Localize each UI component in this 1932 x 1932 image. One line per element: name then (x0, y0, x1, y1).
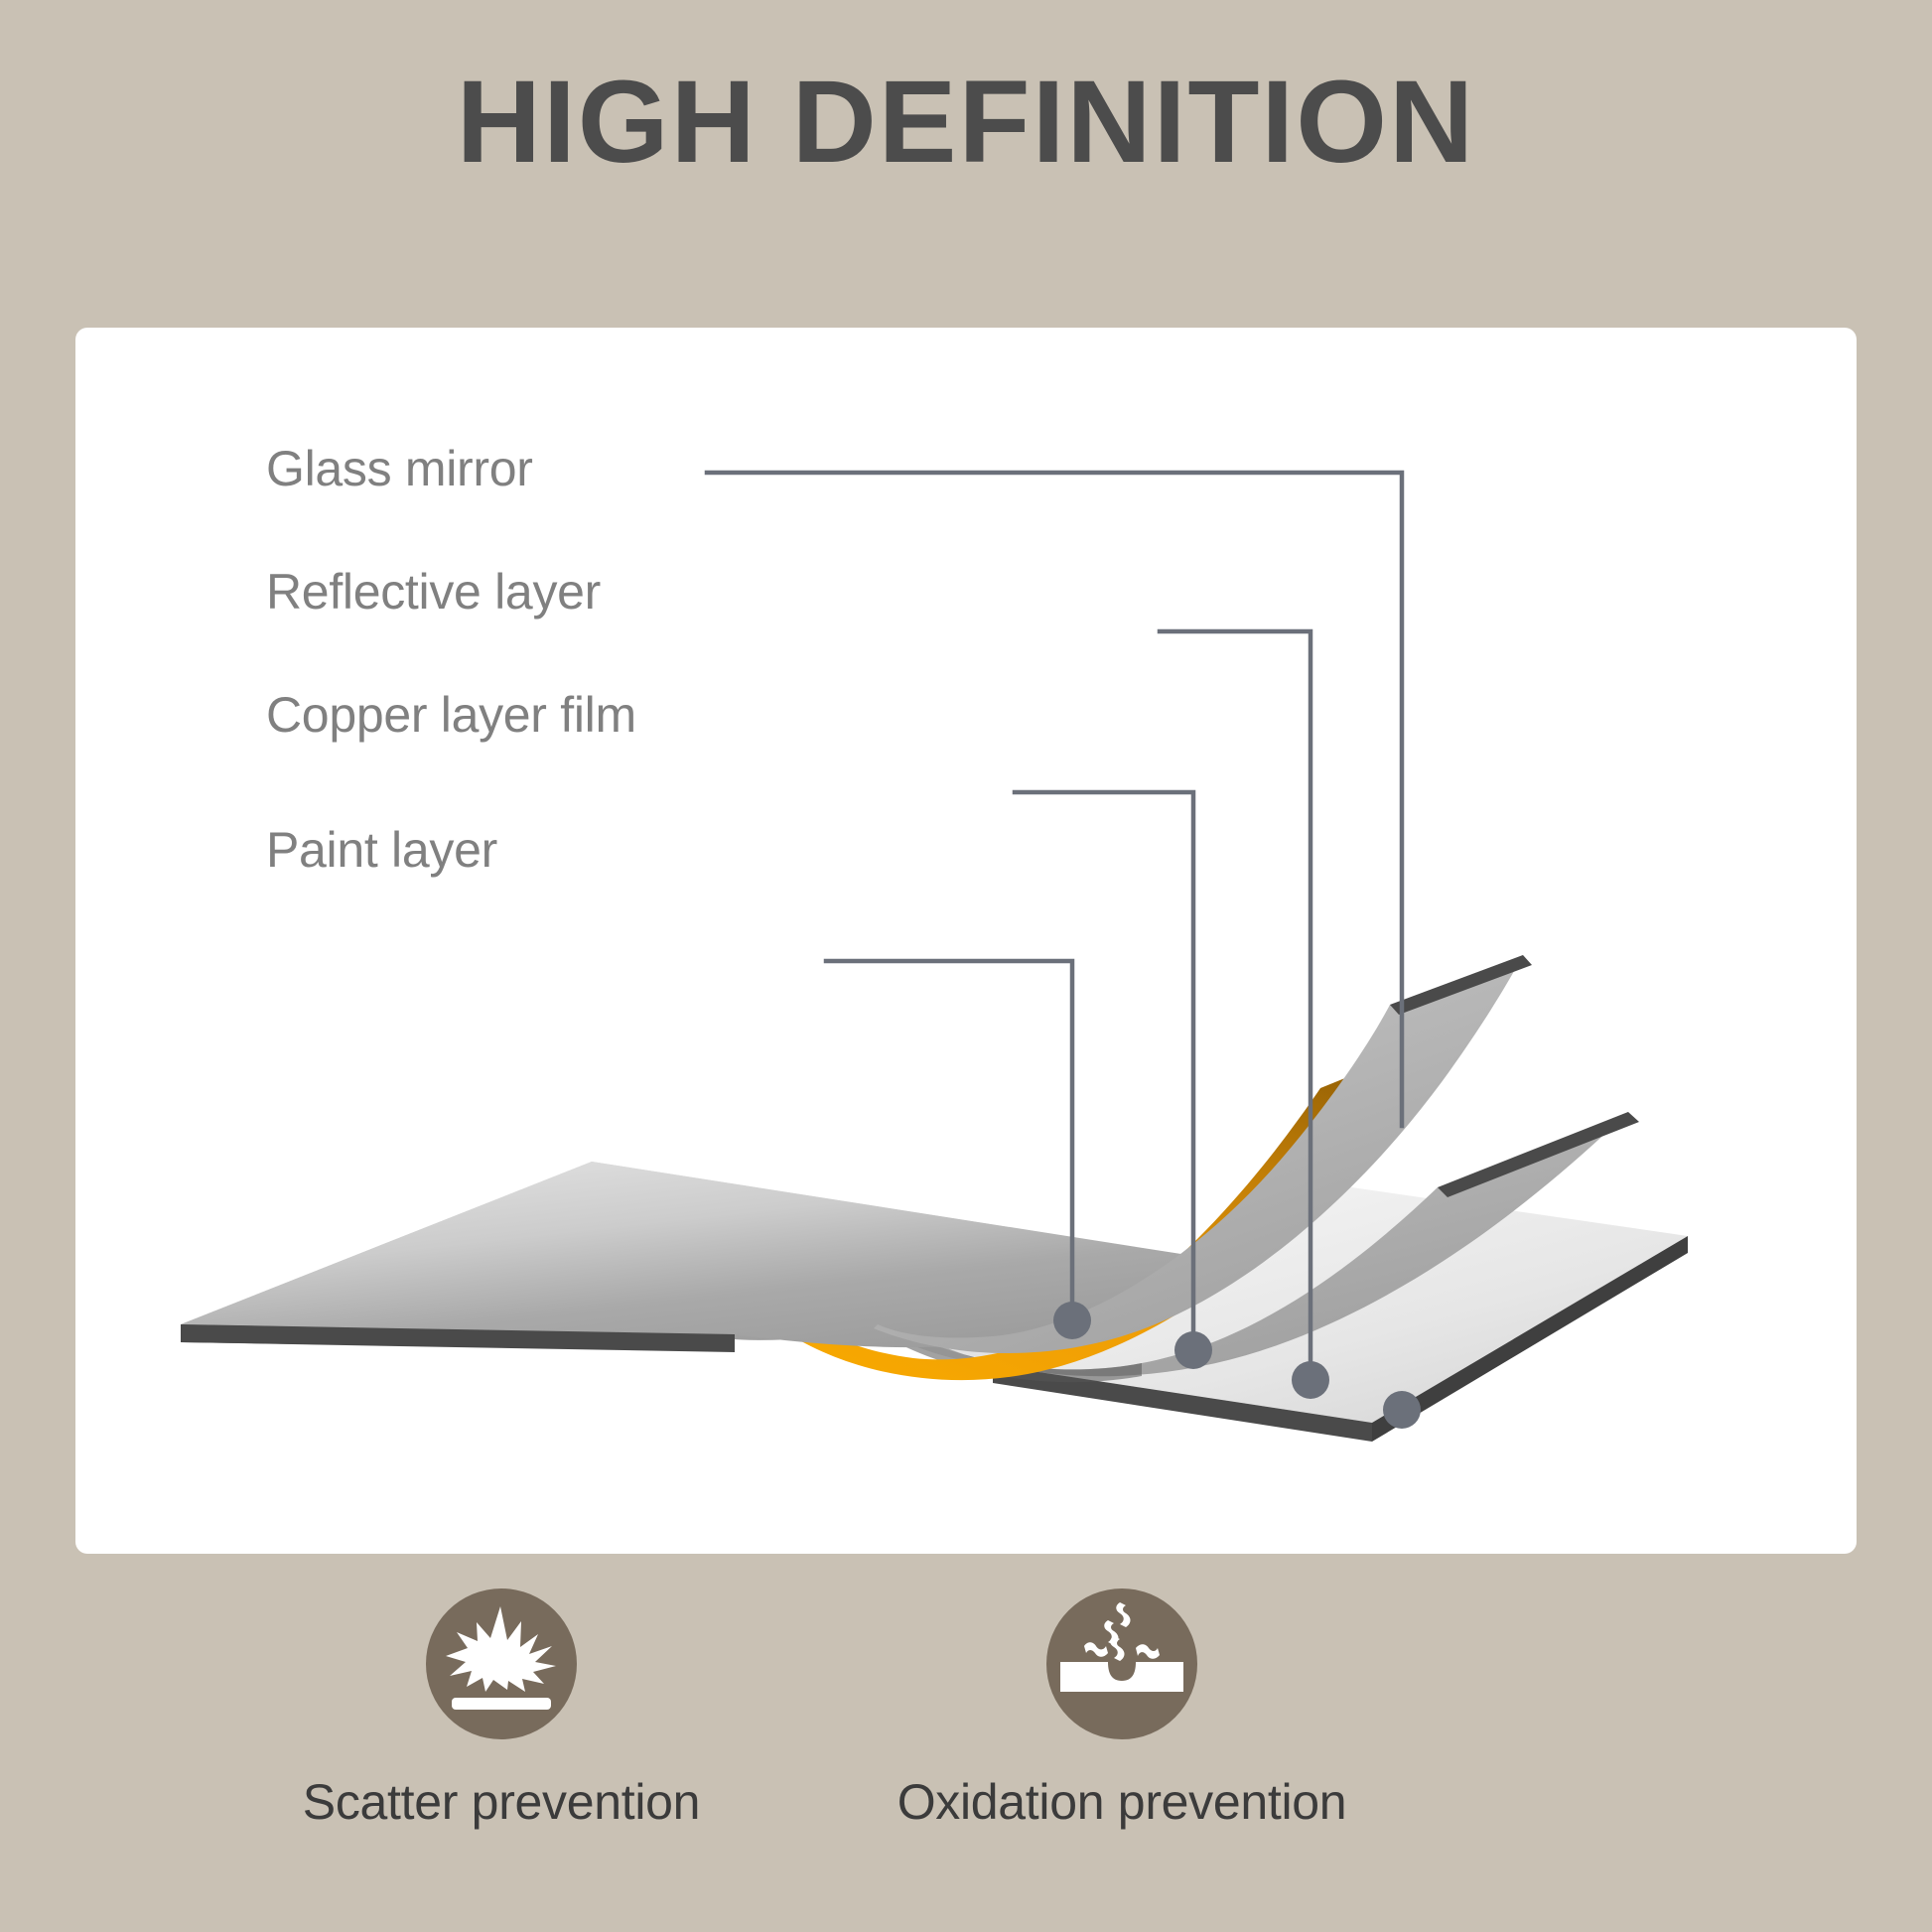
feature-caption: Oxidation prevention (814, 1773, 1430, 1831)
feature-icon-circle (426, 1588, 577, 1739)
feature-list: Scatter prevention Oxidat (0, 1588, 1932, 1916)
burst-icon (426, 1588, 577, 1739)
feature-oxidation-prevention: Oxidation prevention (814, 1588, 1430, 1831)
feature-caption: Scatter prevention (194, 1773, 809, 1831)
feature-icon-circle (1046, 1588, 1197, 1739)
corrosion-icon (1046, 1588, 1197, 1739)
layer-label-glass-mirror: Glass mirror (266, 440, 533, 497)
layer-label-copper-layer-film: Copper layer film (266, 686, 636, 744)
layer-label-reflective-layer: Reflective layer (266, 563, 601, 621)
layer-label-paint-layer: Paint layer (266, 821, 497, 879)
feature-scatter-prevention: Scatter prevention (194, 1588, 809, 1831)
product-infographic: HIGH DEFINITION (0, 0, 1932, 1932)
